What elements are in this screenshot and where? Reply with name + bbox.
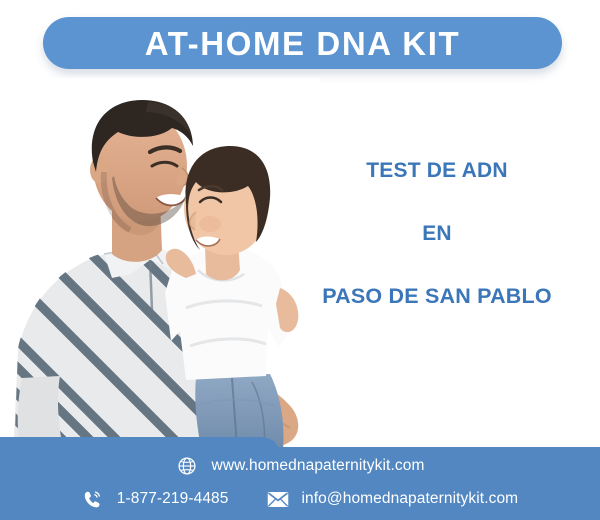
footer-row-website: www.homednapaternitykit.com [0, 455, 600, 477]
website-label[interactable]: www.homednapaternitykit.com [212, 458, 425, 474]
header-banner: AT-HOME DNA KIT [43, 17, 562, 69]
email-group: info@homednapaternitykit.com [267, 488, 519, 510]
headline-line-2: EN [292, 223, 582, 244]
headline-block: TEST DE ADN EN PASO DE SAN PABLO [292, 160, 582, 308]
phone-icon [82, 488, 104, 510]
footer-band: www.homednapaternitykit.com 1-877-219-44… [0, 437, 600, 520]
banner-title: AT-HOME DNA KIT [145, 27, 460, 60]
headline-line-1: TEST DE ADN [292, 160, 582, 181]
email-label[interactable]: info@homednapaternitykit.com [302, 491, 519, 507]
phone-group: 1-877-219-4485 [82, 488, 229, 510]
footer-row-contact: 1-877-219-4485 info@homednapaternitykit.… [0, 488, 600, 510]
envelope-icon [267, 488, 289, 510]
poster-canvas: AT-HOME DNA KIT [0, 0, 600, 520]
phone-label[interactable]: 1-877-219-4485 [117, 491, 229, 507]
headline-line-3: PASO DE SAN PABLO [292, 286, 582, 308]
globe-icon [176, 455, 198, 477]
family-photo [0, 78, 320, 460]
